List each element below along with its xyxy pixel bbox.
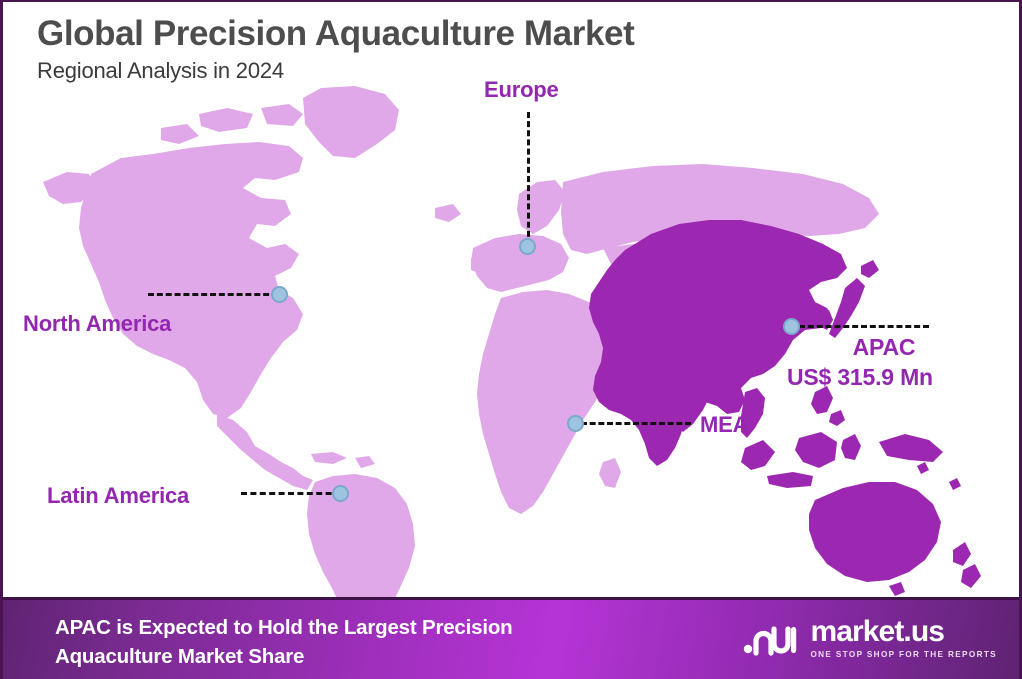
brand-text: market.us ONE STOP SHOP FOR THE REPORTS [810, 617, 997, 659]
leader-line-europe [527, 112, 530, 246]
region-label-north-america: North America [23, 311, 171, 337]
footer-message-line2: Aquaculture Market Share [55, 642, 512, 671]
footer-banner: APAC is Expected to Hold the Largest Pre… [3, 597, 1022, 679]
map-dot-north-america[interactable] [271, 286, 288, 303]
leader-line-latin-america [241, 492, 341, 495]
region-label-latin-america: Latin America [47, 483, 189, 509]
brand-logo[interactable]: market.us ONE STOP SHOP FOR THE REPORTS [743, 616, 997, 660]
page-subtitle: Regional Analysis in 2024 [37, 58, 634, 84]
market-us-logo-icon [743, 616, 799, 660]
map-dot-mea[interactable] [567, 415, 584, 432]
leader-line-apac [799, 325, 929, 328]
region-label-mea: MEA [700, 412, 748, 438]
region-label-apac: APAC [835, 332, 933, 362]
map-dot-europe[interactable] [519, 238, 536, 255]
page-title: Global Precision Aquaculture Market [37, 16, 634, 53]
infographic-root: Global Precision Aquaculture Market Regi… [0, 0, 1022, 679]
leader-line-mea [581, 422, 691, 425]
map-dot-apac[interactable] [783, 318, 800, 335]
brand-name: market.us [810, 617, 997, 647]
map-dot-latin-america[interactable] [332, 485, 349, 502]
region-callout-apac: APAC US$ 315.9 Mn [835, 332, 933, 393]
map-region-apac-highlight [589, 220, 981, 596]
header: Global Precision Aquaculture Market Regi… [37, 16, 634, 84]
footer-message-line1: APAC is Expected to Hold the Largest Pre… [55, 613, 512, 642]
footer-message: APAC is Expected to Hold the Largest Pre… [55, 613, 512, 671]
brand-tagline: ONE STOP SHOP FOR THE REPORTS [810, 650, 997, 659]
region-value-apac: US$ 315.9 Mn [787, 362, 933, 392]
leader-line-north-america [148, 293, 278, 296]
